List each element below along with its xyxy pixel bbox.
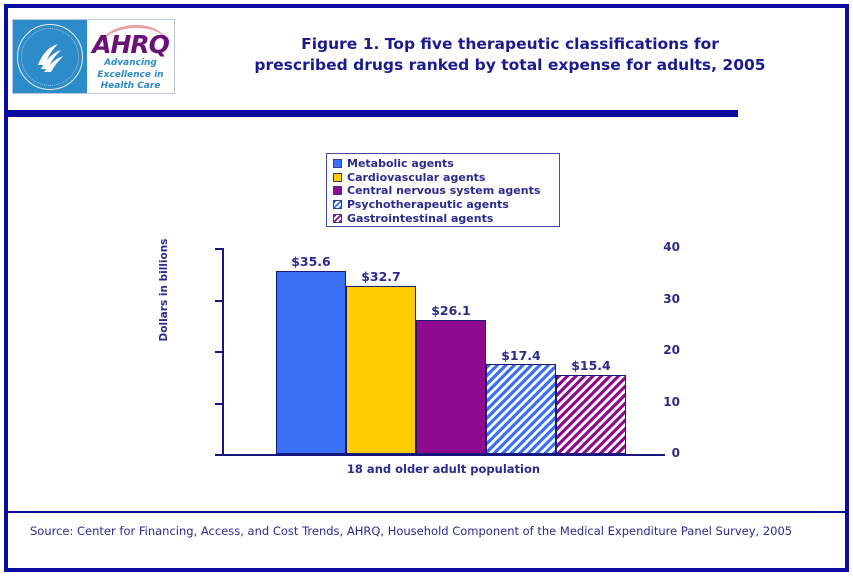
legend-item-metabolic: Metabolic agents <box>333 157 555 171</box>
hhs-seal-icon <box>13 20 87 93</box>
ahrq-wordmark: AHRQ Advancing Excellence in Health Care <box>87 20 174 93</box>
bar-cardiovascular[interactable] <box>346 286 416 454</box>
legend-label-metabolic: Metabolic agents <box>347 158 454 169</box>
legend-swatch-psychotherapeutic-icon <box>333 200 342 209</box>
bar-value-cardiovascular: $32.7 <box>346 269 416 284</box>
ahrq-tagline-line-3: Health Care <box>101 81 161 92</box>
legend-item-gastrointestinal: Gastrointestinal agents <box>333 211 555 225</box>
ahrq-logo: AHRQ Advancing Excellence in Health Care <box>12 19 175 94</box>
legend-item-central-nervous-system: Central nervous system agents <box>333 184 555 198</box>
ahrq-wordmark-text: AHRQ <box>92 32 169 57</box>
bar-cell-psychotherapeutic: $17.4 <box>486 248 556 454</box>
bar-value-psychotherapeutic: $17.4 <box>486 348 556 363</box>
y-tick-30 <box>215 300 222 302</box>
footer-divider <box>8 511 845 513</box>
bar-chart: Dollars in billions 0 10 20 30 40 $35.6 … <box>120 236 680 496</box>
figure-title-line-2: prescribed drugs ranked by total expense… <box>180 55 840 76</box>
legend-item-cardiovascular: Cardiovascular agents <box>333 171 555 185</box>
y-axis-line <box>222 248 224 454</box>
figure-title-line-1: Figure 1. Top five therapeutic classific… <box>180 34 840 55</box>
bar-cell-metabolic: $35.6 <box>276 248 346 454</box>
legend-label-gastrointestinal: Gastrointestinal agents <box>347 213 493 224</box>
bar-cell-gastrointestinal: $15.4 <box>556 248 626 454</box>
y-tick-0 <box>215 454 222 456</box>
y-tick-40 <box>215 248 222 250</box>
bar-metabolic[interactable] <box>276 271 346 454</box>
figure-page: AHRQ Advancing Excellence in Health Care… <box>0 0 853 576</box>
ahrq-tagline-line-2: Excellence in <box>97 70 163 81</box>
y-tick-20 <box>215 351 222 353</box>
legend-label-psychotherapeutic: Psychotherapeutic agents <box>347 199 509 210</box>
figure-title: Figure 1. Top five therapeutic classific… <box>180 34 840 76</box>
header-divider <box>7 110 738 117</box>
legend-item-psychotherapeutic: Psychotherapeutic agents <box>333 198 555 212</box>
bar-value-metabolic: $35.6 <box>276 254 346 269</box>
source-note: Source: Center for Financing, Access, an… <box>30 524 792 538</box>
bar-cell-cardiovascular: $32.7 <box>346 248 416 454</box>
bar-series: $35.6 $32.7 $26.1 $17.4 $15.4 <box>276 248 628 454</box>
bar-gastrointestinal[interactable] <box>556 375 626 454</box>
legend-swatch-gastrointestinal-icon <box>333 214 342 223</box>
y-tick-10 <box>215 403 222 405</box>
legend-swatch-central-nervous-system-icon <box>333 186 342 195</box>
y-axis-title: Dollars in billions <box>158 210 170 370</box>
chart-legend: Metabolic agents Cardiovascular agents C… <box>326 153 560 227</box>
legend-label-cardiovascular: Cardiovascular agents <box>347 172 485 183</box>
legend-label-central-nervous-system: Central nervous system agents <box>347 185 540 196</box>
bar-value-central-nervous-system: $26.1 <box>416 303 486 318</box>
bar-cell-central-nervous-system: $26.1 <box>416 248 486 454</box>
x-axis-title: 18 and older adult population <box>222 462 665 476</box>
legend-swatch-metabolic-icon <box>333 159 342 168</box>
bar-psychotherapeutic[interactable] <box>486 364 556 454</box>
legend-swatch-cardiovascular-icon <box>333 173 342 182</box>
bar-central-nervous-system[interactable] <box>416 320 486 454</box>
ahrq-tagline-line-1: Advancing <box>104 58 157 69</box>
bar-value-gastrointestinal: $15.4 <box>556 358 626 373</box>
